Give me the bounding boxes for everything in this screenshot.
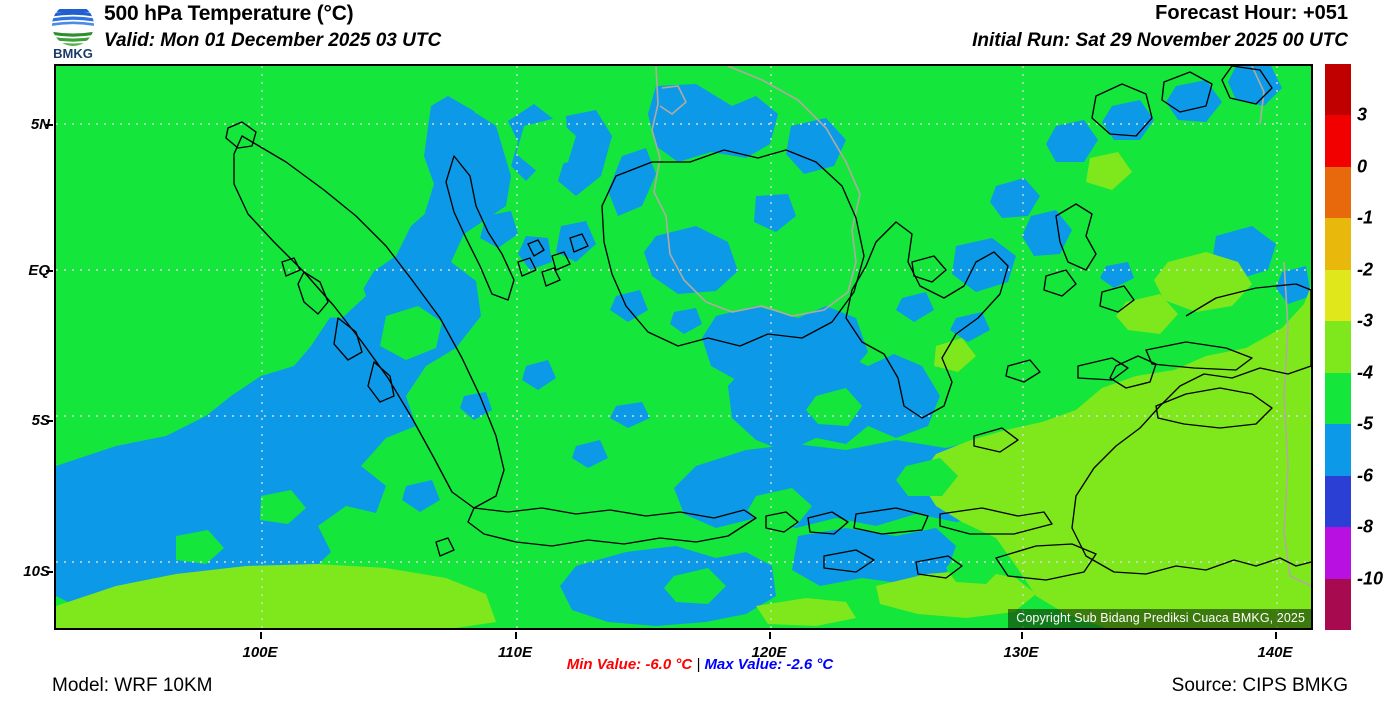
colorbar-tick-minus2: -2 xyxy=(1357,259,1373,280)
colorbar-band-8 xyxy=(1325,424,1351,475)
temperature-colorbar[interactable] xyxy=(1325,64,1351,630)
colorbar-band-11 xyxy=(1325,579,1351,630)
initial-run-label: Initial Run: Sat 29 November 2025 00 UTC xyxy=(972,28,1348,53)
header-bar: BMKG 500 hPa Temperature (°C) Valid: Mon… xyxy=(0,0,1400,62)
y-tick-5n: 5N xyxy=(8,116,50,133)
forecast-hour-label: Forecast Hour: +051 xyxy=(972,1,1348,26)
y-tick-eq: EQ xyxy=(8,262,50,279)
source-label: Source: CIPS BMKG xyxy=(1172,675,1348,697)
colorbar-tick-minus5: -5 xyxy=(1357,414,1373,435)
title-block: 500 hPa Temperature (°C) Valid: Mon 01 D… xyxy=(104,1,441,53)
latitude-axis: 5N EQ 5S 10S xyxy=(0,64,50,630)
colorbar-tick-minus1: -1 xyxy=(1357,208,1373,229)
colorbar-band-2 xyxy=(1325,115,1351,166)
minmax-readout: Min Value: -6.0 °C | Max Value: -2.6 °C xyxy=(0,656,1400,673)
colorbar-tick-minus3: -3 xyxy=(1357,311,1373,332)
colorbar-band-1 xyxy=(1325,64,1351,115)
bmkg-logo: BMKG xyxy=(44,2,102,60)
logo-text: BMKG xyxy=(53,46,93,60)
model-label: Model: WRF 10KM xyxy=(52,675,212,697)
page-title: 500 hPa Temperature (°C) xyxy=(104,1,441,26)
colorbar-tick-minus10: -10 xyxy=(1357,568,1383,589)
colorbar-band-6 xyxy=(1325,321,1351,372)
forecast-map[interactable]: Copyright Sub Bidang Prediksi Cuaca BMKG… xyxy=(54,64,1313,630)
map-canvas xyxy=(56,66,1311,628)
y-tick-5s: 5S xyxy=(8,412,50,429)
colorbar-band-9 xyxy=(1325,476,1351,527)
copyright-watermark: Copyright Sub Bidang Prediksi Cuaca BMKG… xyxy=(1008,609,1311,628)
colorbar-tick-0: 0 xyxy=(1357,156,1367,177)
min-value-label: Min Value: -6.0 °C xyxy=(567,656,692,673)
colorbar-tick-3: 3 xyxy=(1357,105,1367,126)
colorbar-band-3 xyxy=(1325,167,1351,218)
colorbar-band-7 xyxy=(1325,373,1351,424)
colorbar-labels: 30-1-2-3-4-5-6-8-10 xyxy=(1357,64,1400,630)
max-value-label: Max Value: -2.6 °C xyxy=(704,656,833,673)
minmax-separator: | xyxy=(696,656,700,673)
colorbar-band-10 xyxy=(1325,527,1351,578)
colorbar-band-4 xyxy=(1325,218,1351,269)
valid-time-label: Valid: Mon 01 December 2025 03 UTC xyxy=(104,28,441,53)
colorbar-band-5 xyxy=(1325,270,1351,321)
run-info-block: Forecast Hour: +051 Initial Run: Sat 29 … xyxy=(972,1,1348,53)
footer-bar: Min Value: -6.0 °C | Max Value: -2.6 °C … xyxy=(0,662,1400,709)
colorbar-tick-minus8: -8 xyxy=(1357,517,1373,538)
colorbar-tick-minus6: -6 xyxy=(1357,465,1373,486)
colorbar-tick-minus4: -4 xyxy=(1357,362,1373,383)
y-tick-10s: 10S xyxy=(8,563,50,580)
